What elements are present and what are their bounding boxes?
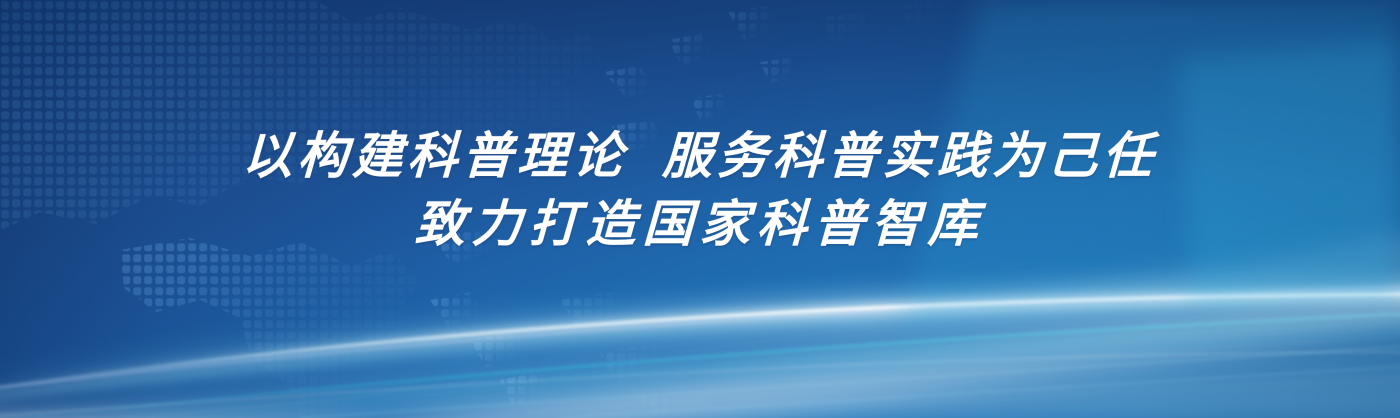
- right-vignette: [0, 0, 1400, 418]
- top-vignette: [0, 0, 1400, 418]
- slogan-line-1: 以构建科普理论 服务科普实践为己任: [0, 122, 1400, 190]
- left-vignette: [0, 0, 1400, 418]
- light-arc-swoosh: [0, 0, 1400, 418]
- slogan-line-2: 致力打造国家科普智库: [0, 190, 1400, 258]
- slogan-headline: 以构建科普理论 服务科普实践为己任 致力打造国家科普智库: [0, 122, 1400, 258]
- hero-banner: 以构建科普理论 服务科普实践为己任 致力打造国家科普智库: [0, 0, 1400, 418]
- dotted-world-map: [0, 0, 1400, 418]
